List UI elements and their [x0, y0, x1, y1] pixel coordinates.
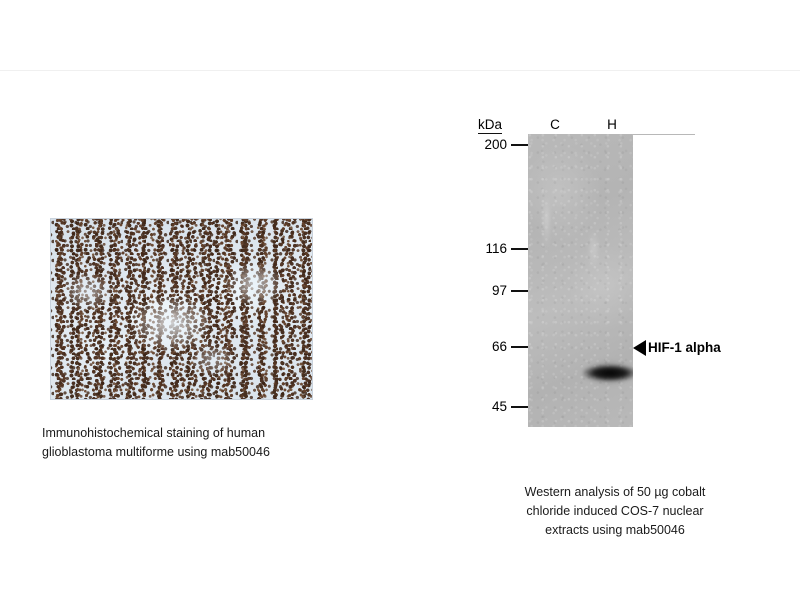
marker-value-45: 45: [492, 400, 511, 414]
ihc-caption-line-2: glioblastoma multiforme using mab50046: [42, 443, 332, 462]
wb-caption-line-3: extracts using mab50046: [470, 521, 760, 540]
ihc-micrograph-image: [50, 218, 313, 400]
marker-tick-45: [511, 406, 528, 408]
marker-value-66: 66: [492, 340, 511, 354]
western-blot-caption: Western analysis of 50 µg cobalt chlorid…: [470, 483, 760, 540]
marker-row-116: 116: [470, 242, 528, 256]
marker-row-66: 66: [470, 340, 528, 354]
western-blot-panel: kDa C H 200 116 97 66 45 HIF-1 alpha: [470, 108, 760, 448]
membrane-artifact-streak-1: [544, 194, 549, 249]
page-top-rule: [0, 70, 800, 71]
hif-1-alpha-band: [583, 363, 633, 383]
marker-tick-66: [511, 346, 528, 348]
band-pointer-arrow-icon: [633, 340, 646, 356]
ihc-caption: Immunohistochemical staining of human gl…: [42, 424, 332, 462]
marker-tick-200: [511, 144, 528, 146]
analyte-label: HIF-1 alpha: [648, 339, 721, 356]
wb-caption-line-2: chloride induced COS-7 nuclear: [470, 502, 760, 521]
kda-axis-title: kDa: [478, 117, 502, 134]
marker-tick-116: [511, 248, 528, 250]
marker-row-45: 45: [470, 400, 528, 414]
marker-row-200: 200: [470, 138, 528, 152]
lane-label-c: C: [545, 117, 565, 132]
marker-value-116: 116: [485, 242, 511, 256]
lane-label-h: H: [602, 117, 622, 132]
marker-row-97: 97: [470, 284, 528, 298]
ihc-panel: [50, 218, 313, 400]
ihc-unstained-regions-layer: [51, 219, 312, 399]
ihc-caption-line-1: Immunohistochemical staining of human: [42, 424, 332, 443]
wb-caption-line-1: Western analysis of 50 µg cobalt: [470, 483, 760, 502]
marker-value-200: 200: [484, 138, 511, 152]
marker-value-97: 97: [492, 284, 511, 298]
membrane-artifact-streak-2: [590, 229, 597, 269]
blot-membrane: [528, 134, 633, 427]
marker-tick-97: [511, 290, 528, 292]
